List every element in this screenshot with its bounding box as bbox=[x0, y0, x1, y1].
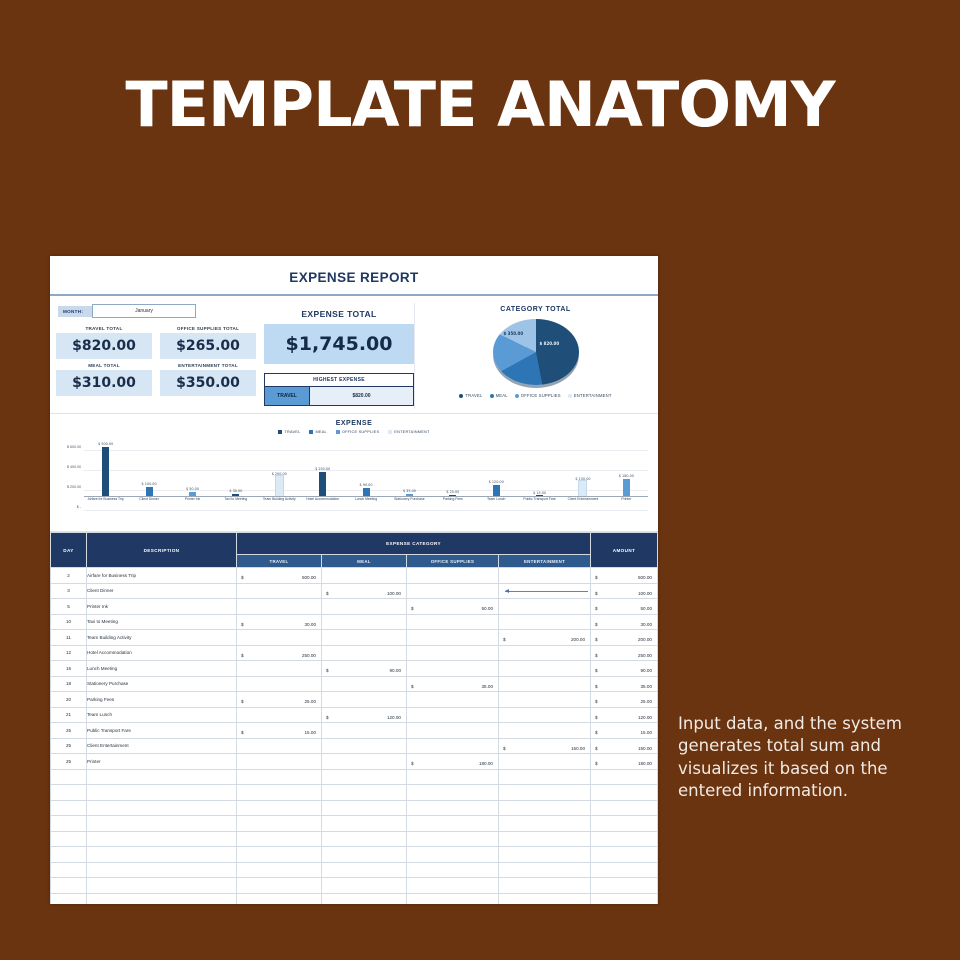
cell-amount[interactable]: $25.00 bbox=[591, 692, 658, 708]
cell-travel[interactable]: $25.00 bbox=[237, 692, 322, 708]
cell-office-supplies[interactable] bbox=[407, 645, 499, 661]
cell-meal[interactable] bbox=[322, 630, 407, 646]
cell-office-supplies[interactable] bbox=[407, 738, 499, 754]
table-row-empty[interactable] bbox=[51, 862, 658, 878]
cell-empty[interactable] bbox=[499, 800, 591, 816]
legend-swatch-icon bbox=[388, 430, 392, 434]
cell-travel[interactable] bbox=[237, 676, 322, 692]
cell-day[interactable]: 10 bbox=[51, 614, 87, 630]
cell-value: 35.00 bbox=[641, 684, 653, 689]
cell-amount[interactable]: $120.00 bbox=[591, 707, 658, 723]
cell-empty[interactable] bbox=[237, 785, 322, 801]
cell-description[interactable]: Stationery Purchase bbox=[87, 676, 237, 692]
cell-empty[interactable] bbox=[237, 893, 322, 904]
currency-symbol: $ bbox=[595, 684, 598, 689]
cell-entertainment[interactable] bbox=[499, 692, 591, 708]
cell-empty[interactable] bbox=[51, 893, 87, 904]
cell-day[interactable]: 25 bbox=[51, 754, 87, 770]
legend-label: TRAVEL bbox=[465, 393, 482, 398]
table-row[interactable]: 21Team Lunch$120.00$120.00 bbox=[51, 707, 658, 723]
cell-empty[interactable] bbox=[499, 847, 591, 863]
legend-dot-icon bbox=[568, 394, 572, 398]
cell-entertainment[interactable] bbox=[499, 583, 591, 599]
cell-description[interactable]: Team Lunch bbox=[87, 707, 237, 723]
cell-empty[interactable] bbox=[499, 878, 591, 894]
cell-value: 250.00 bbox=[302, 653, 316, 658]
legend-label: MEAL bbox=[496, 393, 508, 398]
highest-expense-box: HIGHEST EXPENSE TRAVEL $820.00 bbox=[264, 373, 414, 406]
x-axis-tick-label: Lunch Meeting bbox=[344, 497, 387, 511]
bar-value-label: $ 500.00 bbox=[98, 442, 113, 446]
y-axis-tick-label: $ 400.00 bbox=[67, 465, 81, 469]
bar-value-label: $ 15.00 bbox=[533, 491, 546, 495]
cell-entertainment[interactable] bbox=[499, 723, 591, 739]
legend-swatch-icon bbox=[309, 430, 313, 434]
cell-description[interactable]: Client Dinner bbox=[87, 583, 237, 599]
pie-slice-label-travel: $ 820.00 bbox=[540, 341, 560, 346]
legend-swatch-icon bbox=[336, 430, 340, 434]
bar-value-label: $ 25.00 bbox=[446, 490, 459, 494]
cell-empty[interactable] bbox=[51, 862, 87, 878]
cell-empty[interactable] bbox=[407, 878, 499, 894]
legend-item-entertainment: ENTERTAINMENT bbox=[568, 393, 612, 398]
cell-travel[interactable] bbox=[237, 599, 322, 615]
table-row-empty[interactable] bbox=[51, 816, 658, 832]
cell-empty[interactable] bbox=[591, 878, 658, 894]
cell-description[interactable]: Parking Fees bbox=[87, 692, 237, 708]
document-title: EXPENSE REPORT bbox=[50, 256, 658, 296]
kpi-value: $310.00 bbox=[56, 370, 152, 396]
cell-empty[interactable] bbox=[407, 862, 499, 878]
column-header-meal[interactable]: MEAL bbox=[322, 555, 407, 568]
cell-description[interactable]: Lunch Meeting bbox=[87, 661, 237, 677]
cell-meal[interactable] bbox=[322, 723, 407, 739]
cell-empty[interactable] bbox=[237, 769, 322, 785]
cell-description[interactable]: Taxi to Meeting bbox=[87, 614, 237, 630]
currency-symbol: $ bbox=[595, 606, 598, 611]
cell-empty[interactable] bbox=[237, 816, 322, 832]
cell-value: 120.00 bbox=[638, 715, 652, 720]
kpi-column: MONTH: January TRAVEL TOTAL $820.00 OFFI… bbox=[56, 303, 264, 409]
bar-chart-title: EXPENSE bbox=[58, 420, 650, 427]
cell-value: 180.00 bbox=[479, 761, 493, 766]
cell-empty[interactable] bbox=[322, 831, 407, 847]
cell-day[interactable]: 2 bbox=[51, 568, 87, 584]
kpi-office-supplies-total: OFFICE SUPPLIES TOTAL $265.00 bbox=[160, 326, 256, 359]
cell-travel[interactable] bbox=[237, 661, 322, 677]
cell-amount[interactable]: $35.00 bbox=[591, 676, 658, 692]
table-row[interactable]: 10Taxi to Meeting$30.00$30.00 bbox=[51, 614, 658, 630]
x-axis-tick-label: Team Building Activity bbox=[258, 497, 301, 511]
cell-travel[interactable] bbox=[237, 754, 322, 770]
cell-empty[interactable] bbox=[51, 785, 87, 801]
cell-amount[interactable]: $250.00 bbox=[591, 645, 658, 661]
cell-travel[interactable]: $500.00 bbox=[237, 568, 322, 584]
cell-value: 100.00 bbox=[387, 591, 401, 596]
bar-value-label: $ 250.00 bbox=[315, 467, 330, 471]
column-header-travel[interactable]: TRAVEL bbox=[237, 555, 322, 568]
cell-description[interactable]: Printer bbox=[87, 754, 237, 770]
cell-empty[interactable] bbox=[499, 769, 591, 785]
cell-meal[interactable] bbox=[322, 754, 407, 770]
cell-empty[interactable] bbox=[322, 878, 407, 894]
currency-symbol: $ bbox=[595, 591, 598, 596]
expense-bar-chart: EXPENSE TRAVEL MEAL OFFICE SUPPLIES ENTE… bbox=[50, 414, 658, 532]
cell-empty[interactable] bbox=[51, 847, 87, 863]
x-axis-tick-label: Stationery Purchase bbox=[388, 497, 431, 511]
bar-group: $ 25.00 bbox=[431, 437, 474, 497]
table-row[interactable]: 12Hotel Accommodation$250.00$250.00 bbox=[51, 645, 658, 661]
kpi-meal-total: MEAL TOTAL $310.00 bbox=[56, 363, 152, 396]
bar-chart-bars: $ 500.00$ 100.00$ 50.00$ 30.00$ 200.00$ … bbox=[84, 437, 648, 497]
cell-empty[interactable] bbox=[499, 893, 591, 904]
x-axis-tick-label: Hotel Accommodation bbox=[301, 497, 344, 511]
cell-entertainment[interactable] bbox=[499, 599, 591, 615]
cell-meal[interactable] bbox=[322, 614, 407, 630]
cell-travel[interactable]: $15.00 bbox=[237, 723, 322, 739]
cell-value: 200.00 bbox=[638, 637, 652, 642]
cell-empty[interactable] bbox=[499, 862, 591, 878]
kpi-label: ENTERTAINMENT TOTAL bbox=[160, 363, 256, 368]
cell-empty[interactable] bbox=[407, 831, 499, 847]
cell-empty[interactable] bbox=[237, 800, 322, 816]
kpi-grid: TRAVEL TOTAL $820.00 OFFICE SUPPLIES TOT… bbox=[56, 326, 264, 396]
x-axis-tick-label: Team Lunch bbox=[475, 497, 518, 511]
cell-office-supplies[interactable]: $180.00 bbox=[407, 754, 499, 770]
cell-empty[interactable] bbox=[591, 893, 658, 904]
kpi-value: $265.00 bbox=[160, 333, 256, 359]
cell-value: 500.00 bbox=[302, 575, 316, 580]
legend-item-office-supplies: OFFICE SUPPLIES bbox=[515, 393, 561, 398]
cell-day[interactable]: 25 bbox=[51, 738, 87, 754]
cell-day[interactable]: 15 bbox=[51, 661, 87, 677]
y-axis-tick-label: $ 600.00 bbox=[67, 445, 81, 449]
cell-entertainment[interactable] bbox=[499, 661, 591, 677]
cell-description[interactable]: Hotel Accommodation bbox=[87, 645, 237, 661]
cell-empty[interactable] bbox=[322, 847, 407, 863]
cell-office-supplies[interactable] bbox=[407, 583, 499, 599]
cell-empty[interactable] bbox=[87, 862, 237, 878]
cell-day[interactable]: 18 bbox=[51, 676, 87, 692]
column-header-day[interactable]: DAY bbox=[51, 533, 87, 568]
pie-slice-label-entertainment: $ 350.00 bbox=[504, 331, 524, 336]
cell-empty[interactable] bbox=[87, 785, 237, 801]
cell-empty[interactable] bbox=[591, 847, 658, 863]
table-row[interactable]: 5Printer Ink$50.00$50.00 bbox=[51, 599, 658, 615]
cell-meal[interactable] bbox=[322, 738, 407, 754]
cell-empty[interactable] bbox=[322, 862, 407, 878]
expense-total-label: EXPENSE TOTAL bbox=[264, 309, 414, 319]
cell-empty[interactable] bbox=[87, 831, 237, 847]
cell-value: 90.00 bbox=[390, 668, 402, 673]
legend-item-meal: MEAL bbox=[309, 429, 326, 434]
bar-value-label: $ 180.00 bbox=[619, 474, 634, 478]
table-row-empty[interactable] bbox=[51, 800, 658, 816]
bar-group: $ 150.00 bbox=[561, 437, 604, 497]
cell-value: 25.00 bbox=[305, 699, 317, 704]
x-axis-tick-label: Printer bbox=[605, 497, 648, 511]
bar bbox=[275, 475, 284, 497]
cell-description[interactable]: Public Transport Fare bbox=[87, 723, 237, 739]
cell-amount[interactable]: $150.00 bbox=[591, 738, 658, 754]
cell-travel[interactable]: $30.00 bbox=[237, 614, 322, 630]
currency-symbol: $ bbox=[595, 715, 598, 720]
cell-description[interactable]: Airfare for Business Trip bbox=[87, 568, 237, 584]
cell-day[interactable]: 5 bbox=[51, 599, 87, 615]
cell-value: 180.00 bbox=[638, 761, 652, 766]
currency-symbol: $ bbox=[411, 761, 414, 766]
table-row[interactable]: 25Client Entertainment$150.00$150.00 bbox=[51, 738, 658, 754]
cell-amount[interactable]: $90.00 bbox=[591, 661, 658, 677]
cell-empty[interactable] bbox=[87, 847, 237, 863]
bar-group: $ 50.00 bbox=[171, 437, 214, 497]
x-axis-tick-label: Taxi to Meeting bbox=[214, 497, 257, 511]
cell-day[interactable]: 11 bbox=[51, 630, 87, 646]
kpi-label: MEAL TOTAL bbox=[56, 363, 152, 368]
table-row[interactable]: 3Client Dinner$100.00$100.00 bbox=[51, 583, 658, 599]
bar-value-label: $ 150.00 bbox=[575, 477, 590, 481]
expense-total-column: EXPENSE TOTAL $1,745.00 HIGHEST EXPENSE … bbox=[264, 303, 414, 409]
cell-meal[interactable] bbox=[322, 645, 407, 661]
table-row-empty[interactable] bbox=[51, 785, 658, 801]
legend-item-travel: TRAVEL bbox=[278, 429, 300, 434]
cell-empty[interactable] bbox=[591, 831, 658, 847]
currency-symbol: $ bbox=[595, 637, 598, 642]
kpi-value: $350.00 bbox=[160, 370, 256, 396]
cell-empty[interactable] bbox=[322, 893, 407, 904]
legend-label: OFFICE SUPPLIES bbox=[342, 429, 379, 434]
cell-empty[interactable] bbox=[237, 831, 322, 847]
bar-value-label: $ 35.00 bbox=[403, 489, 416, 493]
pie-chart-title: CATEGORY TOTAL bbox=[419, 306, 652, 313]
cell-amount[interactable]: $50.00 bbox=[591, 599, 658, 615]
bar bbox=[578, 480, 587, 497]
cell-travel[interactable] bbox=[237, 707, 322, 723]
bar-chart-plot-area: $ -$ 200.00$ 400.00$ 600.00 $ 500.00$ 10… bbox=[84, 437, 648, 511]
cell-description[interactable]: Printer Ink bbox=[87, 599, 237, 615]
pie-chart-legend: TRAVEL MEAL OFFICE SUPPLIES ENTERTAINMEN… bbox=[419, 393, 652, 398]
cell-value: 150.00 bbox=[571, 746, 585, 751]
month-input[interactable]: January bbox=[92, 304, 196, 318]
cell-empty[interactable] bbox=[407, 769, 499, 785]
x-axis-tick-label: Client Entertainment bbox=[561, 497, 604, 511]
bar-group: $ 100.00 bbox=[127, 437, 170, 497]
currency-symbol: $ bbox=[595, 730, 598, 735]
legend-label: ENTERTAINMENT bbox=[574, 393, 612, 398]
cell-amount[interactable]: $500.00 bbox=[591, 568, 658, 584]
kpi-label: TRAVEL TOTAL bbox=[56, 326, 152, 331]
cell-entertainment[interactable]: $200.00 bbox=[499, 630, 591, 646]
cell-empty[interactable] bbox=[407, 893, 499, 904]
cell-empty[interactable] bbox=[591, 816, 658, 832]
table-row[interactable]: 15Lunch Meeting$90.00$90.00 bbox=[51, 661, 658, 677]
cell-empty[interactable] bbox=[322, 769, 407, 785]
cell-meal[interactable] bbox=[322, 599, 407, 615]
bar-group: $ 500.00 bbox=[84, 437, 127, 497]
cell-empty[interactable] bbox=[591, 769, 658, 785]
cell-description[interactable]: Client Entertainment bbox=[87, 738, 237, 754]
bar-chart-x-labels: Airfare for Business TripClient DinnerPr… bbox=[84, 497, 648, 511]
legend-item-travel: TRAVEL bbox=[459, 393, 482, 398]
cell-entertainment[interactable] bbox=[499, 614, 591, 630]
cell-day[interactable]: 12 bbox=[51, 645, 87, 661]
legend-dot-icon bbox=[490, 394, 494, 398]
cell-meal[interactable]: $120.00 bbox=[322, 707, 407, 723]
currency-symbol: $ bbox=[411, 606, 414, 611]
cell-entertainment[interactable] bbox=[499, 568, 591, 584]
cell-empty[interactable] bbox=[87, 769, 237, 785]
bar-chart-legend: TRAVEL MEAL OFFICE SUPPLIES ENTERTAINMEN… bbox=[58, 429, 650, 434]
cell-entertainment[interactable] bbox=[499, 754, 591, 770]
cell-office-supplies[interactable]: $50.00 bbox=[407, 599, 499, 615]
cell-office-supplies[interactable] bbox=[407, 568, 499, 584]
bar-group: $ 35.00 bbox=[388, 437, 431, 497]
column-header-amount[interactable]: AMOUNT bbox=[591, 533, 658, 568]
cell-office-supplies[interactable] bbox=[407, 661, 499, 677]
cell-office-supplies[interactable]: $35.00 bbox=[407, 676, 499, 692]
cell-day[interactable]: 20 bbox=[51, 692, 87, 708]
cell-empty[interactable] bbox=[322, 785, 407, 801]
cell-empty[interactable] bbox=[87, 816, 237, 832]
cell-empty[interactable] bbox=[591, 862, 658, 878]
cell-empty[interactable] bbox=[87, 800, 237, 816]
cell-meal[interactable] bbox=[322, 568, 407, 584]
cell-entertainment[interactable] bbox=[499, 645, 591, 661]
cell-empty[interactable] bbox=[51, 769, 87, 785]
cell-travel[interactable] bbox=[237, 583, 322, 599]
bar-group: $ 120.00 bbox=[475, 437, 518, 497]
cell-empty[interactable] bbox=[499, 816, 591, 832]
cell-value: 100.00 bbox=[638, 591, 652, 596]
table-row[interactable]: 25Public Transport Fare$15.00$15.00 bbox=[51, 723, 658, 739]
table-row[interactable]: 18Stationery Purchase$35.00$35.00 bbox=[51, 676, 658, 692]
kpi-travel-total: TRAVEL TOTAL $820.00 bbox=[56, 326, 152, 359]
cell-empty[interactable] bbox=[51, 878, 87, 894]
column-header-description[interactable]: DESCRIPTION bbox=[87, 533, 237, 568]
cell-empty[interactable] bbox=[87, 878, 237, 894]
cell-empty[interactable] bbox=[499, 785, 591, 801]
currency-symbol: $ bbox=[503, 746, 506, 751]
table-row[interactable]: 25Printer$180.00$180.00 bbox=[51, 754, 658, 770]
cell-office-supplies[interactable] bbox=[407, 692, 499, 708]
cell-travel[interactable] bbox=[237, 630, 322, 646]
table-row-empty[interactable] bbox=[51, 878, 658, 894]
cell-empty[interactable] bbox=[407, 785, 499, 801]
currency-symbol: $ bbox=[326, 715, 329, 720]
x-axis-tick-label: Public Transport Fare bbox=[518, 497, 561, 511]
description-caption: Input data, and the system generates tot… bbox=[678, 713, 950, 802]
column-header-office-supplies[interactable]: OFFICE SUPPLIES bbox=[407, 555, 499, 568]
cell-amount[interactable]: $180.00 bbox=[591, 754, 658, 770]
table-row-empty[interactable] bbox=[51, 893, 658, 904]
bar-group: $ 30.00 bbox=[214, 437, 257, 497]
cell-empty[interactable] bbox=[322, 816, 407, 832]
cell-day[interactable]: 21 bbox=[51, 707, 87, 723]
legend-item-entertainment: ENTERTAINMENT bbox=[388, 429, 429, 434]
cell-amount[interactable]: $30.00 bbox=[591, 614, 658, 630]
y-axis-tick-label: $ 200.00 bbox=[67, 485, 81, 489]
cell-travel[interactable] bbox=[237, 738, 322, 754]
cell-empty[interactable] bbox=[499, 831, 591, 847]
cell-empty[interactable] bbox=[591, 785, 658, 801]
bar-value-label: $ 90.00 bbox=[360, 483, 373, 487]
cell-description[interactable]: Team Building Activity bbox=[87, 630, 237, 646]
cell-value: 200.00 bbox=[571, 637, 585, 642]
table-row-empty[interactable] bbox=[51, 769, 658, 785]
cell-amount[interactable]: $100.00 bbox=[591, 583, 658, 599]
cell-empty[interactable] bbox=[237, 862, 322, 878]
cell-empty[interactable] bbox=[87, 893, 237, 904]
cell-value: 50.00 bbox=[482, 606, 494, 611]
cell-office-supplies[interactable] bbox=[407, 630, 499, 646]
cell-empty[interactable] bbox=[51, 800, 87, 816]
bar-group: $ 15.00 bbox=[518, 437, 561, 497]
table-row-empty[interactable] bbox=[51, 847, 658, 863]
cell-meal[interactable]: $90.00 bbox=[322, 661, 407, 677]
category-total-chart: CATEGORY TOTAL $ 820.00 $ 350.00 TRAVEL … bbox=[414, 303, 652, 409]
cell-day[interactable]: 3 bbox=[51, 583, 87, 599]
cell-empty[interactable] bbox=[407, 800, 499, 816]
kpi-entertainment-total: ENTERTAINMENT TOTAL $350.00 bbox=[160, 363, 256, 396]
kpi-value: $820.00 bbox=[56, 333, 152, 359]
expense-report-document: EXPENSE REPORT MONTH: January TRAVEL TOT… bbox=[50, 256, 658, 904]
cell-travel[interactable]: $250.00 bbox=[237, 645, 322, 661]
currency-symbol: $ bbox=[241, 622, 244, 627]
cell-meal[interactable] bbox=[322, 676, 407, 692]
cell-empty[interactable] bbox=[591, 800, 658, 816]
cell-entertainment[interactable] bbox=[499, 676, 591, 692]
cell-value: 15.00 bbox=[305, 730, 317, 735]
legend-label: ENTERTAINMENT bbox=[394, 429, 429, 434]
table-row-empty[interactable] bbox=[51, 831, 658, 847]
cell-day[interactable]: 25 bbox=[51, 723, 87, 739]
cell-empty[interactable] bbox=[51, 831, 87, 847]
cell-value: 35.00 bbox=[482, 684, 494, 689]
cell-value: 30.00 bbox=[641, 622, 653, 627]
cell-empty[interactable] bbox=[407, 847, 499, 863]
cell-meal[interactable]: $100.00 bbox=[322, 583, 407, 599]
bar-group: $ 90.00 bbox=[344, 437, 387, 497]
cell-empty[interactable] bbox=[237, 847, 322, 863]
cell-amount[interactable]: $15.00 bbox=[591, 723, 658, 739]
currency-symbol: $ bbox=[241, 699, 244, 704]
cell-empty[interactable] bbox=[51, 816, 87, 832]
cell-entertainment[interactable]: $150.00 bbox=[499, 738, 591, 754]
currency-symbol: $ bbox=[241, 730, 244, 735]
table-row[interactable]: 2Airfare for Business Trip$500.00$500.00 bbox=[51, 568, 658, 584]
cell-office-supplies[interactable] bbox=[407, 707, 499, 723]
cell-value: 250.00 bbox=[638, 653, 652, 658]
legend-item-office-supplies: OFFICE SUPPLIES bbox=[336, 429, 379, 434]
currency-symbol: $ bbox=[595, 622, 598, 627]
cell-meal[interactable] bbox=[322, 692, 407, 708]
cell-office-supplies[interactable] bbox=[407, 614, 499, 630]
cell-empty[interactable] bbox=[407, 816, 499, 832]
currency-symbol: $ bbox=[595, 575, 598, 580]
cell-empty[interactable] bbox=[237, 878, 322, 894]
x-axis-tick-label: Printer Ink bbox=[171, 497, 214, 511]
table-row[interactable]: 11Team Building Activity$200.00$200.00 bbox=[51, 630, 658, 646]
bar-group: $ 180.00 bbox=[605, 437, 648, 497]
cell-office-supplies[interactable] bbox=[407, 723, 499, 739]
currency-symbol: $ bbox=[326, 668, 329, 673]
column-header-entertainment[interactable]: ENTERTAINMENT bbox=[499, 555, 591, 568]
cell-amount[interactable]: $200.00 bbox=[591, 630, 658, 646]
table-row[interactable]: 20Parking Fees$25.00$25.00 bbox=[51, 692, 658, 708]
cell-entertainment[interactable] bbox=[499, 707, 591, 723]
expense-table-body: 2Airfare for Business Trip$500.00$500.00… bbox=[51, 568, 658, 905]
cell-empty[interactable] bbox=[322, 800, 407, 816]
